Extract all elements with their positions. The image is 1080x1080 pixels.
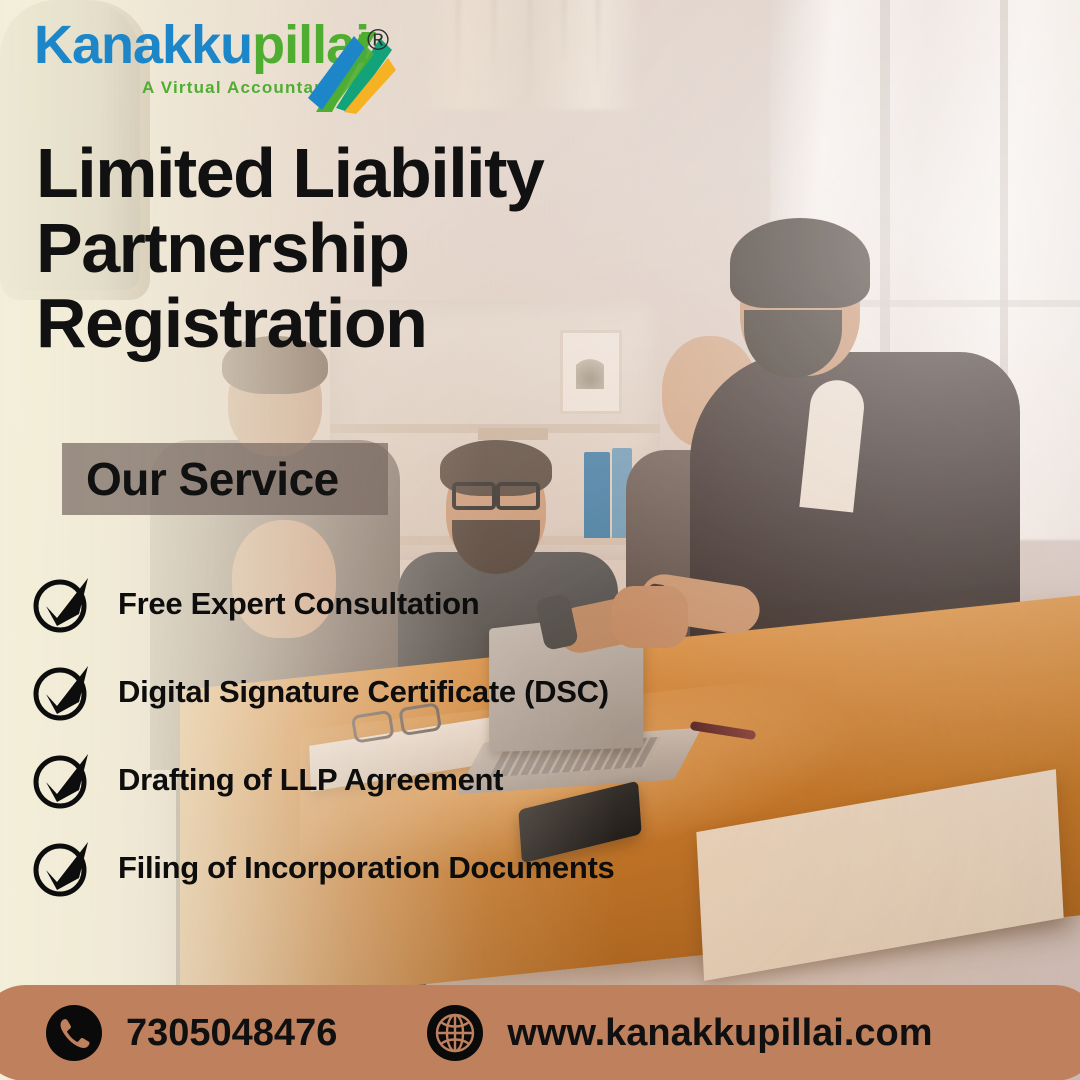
poster-content: Kanakkupillai A Virtual Accountant ® Lim… xyxy=(0,0,1080,1080)
brand-logo[interactable]: Kanakkupillai A Virtual Accountant ® xyxy=(34,18,394,110)
phone-number: 7305048476 xyxy=(126,1012,337,1055)
list-item: Free Expert Consultation xyxy=(30,560,790,648)
service-band-label: Our Service xyxy=(86,452,339,506)
globe-icon xyxy=(427,1005,483,1061)
registered-trademark-icon: ® xyxy=(367,26,389,56)
check-circle-icon xyxy=(30,572,94,636)
logo-text-primary: Kanakku xyxy=(34,15,252,75)
list-item-label: Filing of Incorporation Documents xyxy=(118,850,614,886)
website-url: www.kanakkupillai.com xyxy=(507,1012,932,1055)
list-item: Digital Signature Certificate (DSC) xyxy=(30,648,790,736)
phone-contact[interactable]: 7305048476 xyxy=(46,1005,337,1061)
headline-line-1: Limited Liability xyxy=(36,136,756,211)
page-title: Limited Liability Partnership Registrati… xyxy=(36,136,756,361)
list-item-label: Free Expert Consultation xyxy=(118,586,479,622)
poster-canvas: Kanakkupillai A Virtual Accountant ® Lim… xyxy=(0,0,1080,1080)
headline-line-3: Registration xyxy=(36,286,756,361)
check-circle-icon xyxy=(30,836,94,900)
list-item: Filing of Incorporation Documents xyxy=(30,824,790,912)
list-item: Drafting of LLP Agreement xyxy=(30,736,790,824)
check-circle-icon xyxy=(30,748,94,812)
list-item-label: Digital Signature Certificate (DSC) xyxy=(118,674,609,710)
check-circle-icon xyxy=(30,660,94,724)
service-list: Free Expert Consultation Digital Signatu… xyxy=(30,560,790,912)
footer-contact-bar: 7305048476 xyxy=(0,985,1080,1080)
list-item-label: Drafting of LLP Agreement xyxy=(118,762,503,798)
phone-icon xyxy=(46,1005,102,1061)
headline-line-2: Partnership xyxy=(36,211,756,286)
service-band: Our Service xyxy=(62,443,388,515)
website-contact[interactable]: www.kanakkupillai.com xyxy=(427,1005,932,1061)
